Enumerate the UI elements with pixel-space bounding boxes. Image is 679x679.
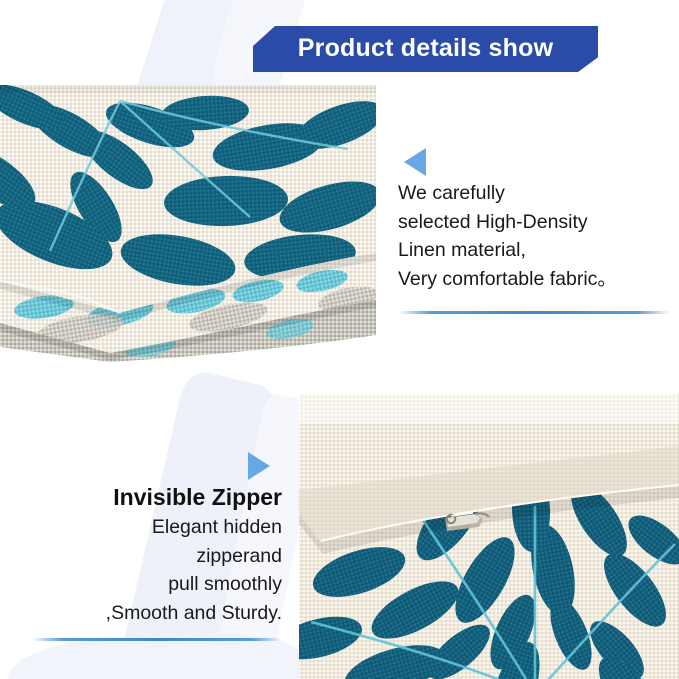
zipper-divider [32, 638, 282, 641]
zipper-line-1: Elegant hidden [18, 513, 282, 542]
material-line-2: selected High-Density [398, 208, 670, 237]
background-swoosh-bottom [6, 628, 309, 679]
feature-zipper-text: Invisible Zipper Elegant hidden zipperan… [18, 482, 282, 627]
triangle-left-icon [404, 148, 426, 176]
header-banner: Product details show [253, 26, 598, 72]
zipper-heading: Invisible Zipper [18, 482, 282, 512]
product-details-infographic: We carefully selected High-Density Linen… [0, 0, 679, 679]
triangle-right-icon [248, 452, 270, 480]
zipper-line-3: pull smoothly [18, 570, 282, 599]
material-line-1: We carefully [398, 179, 670, 208]
material-divider [398, 311, 670, 314]
feature-material-text: We carefully selected High-Density Linen… [398, 179, 670, 293]
material-line-3: Linen material, [398, 236, 670, 265]
material-line-4: Very comfortable fabric。 [398, 265, 670, 294]
fabric-closeup-photo [0, 85, 376, 362]
banner-title: Product details show [298, 34, 553, 65]
zipper-closeup-photo [299, 394, 679, 679]
zipper-line-4: ,Smooth and Sturdy. [18, 599, 282, 628]
zipper-line-2: zipperand [18, 542, 282, 571]
